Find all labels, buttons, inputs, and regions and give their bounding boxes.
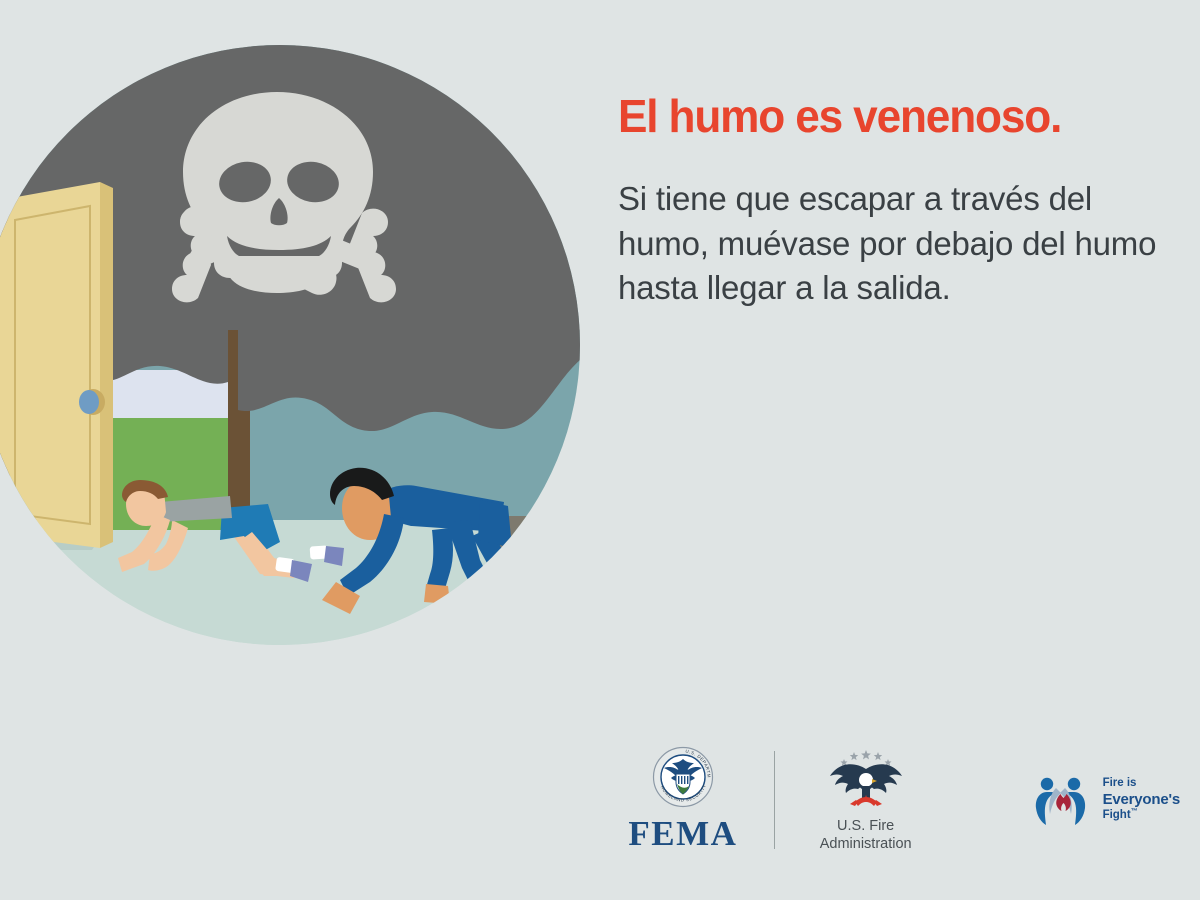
illustration-panel <box>0 30 580 660</box>
usfa-line2: Administration <box>820 835 912 853</box>
fief-line2: Everyone's <box>1103 791 1180 809</box>
fire-is-everyones-fight-emblem <box>1034 774 1096 826</box>
logo-divider <box>774 751 775 849</box>
dhs-seal: U.S. DEPARTMENT OF HOMELAND SECURITY <box>652 746 714 808</box>
text-panel: El humo es venenoso. Si tiene que escapa… <box>618 92 1178 310</box>
fief-line1: Fire is <box>1103 777 1180 791</box>
right-figure-head <box>1067 778 1079 790</box>
door-knob <box>79 390 99 414</box>
man-far-hand <box>424 584 450 604</box>
usfa-wordmark: U.S. Fire Administration <box>820 817 912 853</box>
page-title: El humo es venenoso. <box>618 92 1156 140</box>
man-hips <box>478 500 512 548</box>
crawl-low-under-smoke-illustration <box>0 30 580 660</box>
fief-line3: Fight™ <box>1103 808 1180 822</box>
fema-logo: U.S. DEPARTMENT OF HOMELAND SECURITY <box>620 746 746 854</box>
usfa-logo: U.S. Fire Administration <box>803 747 929 853</box>
man-near-foot-hand <box>458 588 488 610</box>
left-figure-head <box>1040 778 1052 790</box>
usfa-eagle-emblem <box>826 747 906 813</box>
fire-is-everyones-fight-logo: Fire is Everyone's Fight™ <box>1034 774 1180 826</box>
trademark-symbol: ™ <box>1131 808 1138 815</box>
open-door <box>0 182 113 548</box>
logo-bar: U.S. DEPARTMENT OF HOMELAND SECURITY <box>600 735 1180 865</box>
fema-wordmark: FEMA <box>628 814 737 854</box>
fief-wordmark: Fire is Everyone's Fight™ <box>1103 777 1180 823</box>
door-edge <box>100 182 113 548</box>
usfa-line1: U.S. Fire <box>820 817 912 835</box>
flame-shape <box>1056 794 1071 811</box>
body-copy: Si tiene que escapar a través del humo, … <box>618 177 1178 310</box>
